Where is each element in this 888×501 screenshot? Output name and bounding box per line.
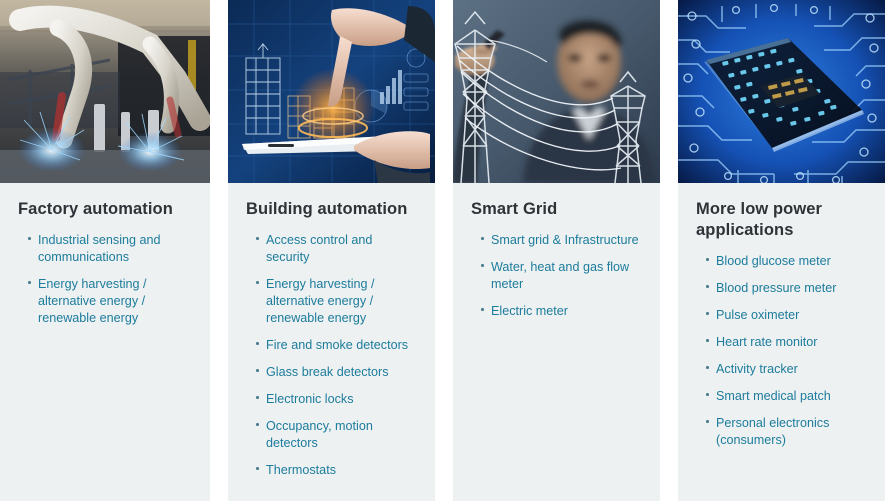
list-item-label: Electric meter xyxy=(491,304,568,318)
card-title: More low power applications xyxy=(696,199,867,241)
feature-list: Smart grid & Infrastructure Water, heat … xyxy=(471,232,642,320)
list-item-label: Fire and smoke detectors xyxy=(266,338,408,352)
bullet-dot-icon xyxy=(481,308,484,311)
feature-list: Access control and security Energy harve… xyxy=(246,232,417,479)
card-more-low-power-applications[interactable]: More low power applications Blood glucos… xyxy=(678,0,885,501)
list-item: Pulse oximeter xyxy=(706,307,867,324)
list-item: Blood pressure meter xyxy=(706,280,867,297)
feature-list: Blood glucose meter Blood pressure meter… xyxy=(696,253,867,449)
bullet-dot-icon xyxy=(706,312,709,315)
list-item: Water, heat and gas flow meter xyxy=(481,259,642,293)
card-title: Factory automation xyxy=(18,199,192,220)
list-item-label: Electronic locks xyxy=(266,392,354,406)
list-item: Smart grid & Infrastructure xyxy=(481,232,642,249)
bullet-dot-icon xyxy=(706,366,709,369)
list-item-label: Water, heat and gas flow meter xyxy=(491,260,629,291)
card-factory-automation[interactable]: Factory automation Industrial sensing an… xyxy=(0,0,210,501)
bullet-dot-icon xyxy=(256,369,259,372)
list-item: Access control and security xyxy=(256,232,417,266)
list-item-label: Access control and security xyxy=(266,233,372,264)
list-item-label: Blood pressure meter xyxy=(716,281,836,295)
bullet-dot-icon xyxy=(256,467,259,470)
card-body: Building automation Access control and s… xyxy=(228,183,435,497)
bullet-dot-icon xyxy=(706,339,709,342)
list-item-label: Blood glucose meter xyxy=(716,254,831,268)
list-item-label: Pulse oximeter xyxy=(716,308,799,322)
bullet-dot-icon xyxy=(706,258,709,261)
list-item: Occupancy, motion detectors xyxy=(256,418,417,452)
list-item-label: Personal electronics (consumers) xyxy=(716,416,829,447)
list-item-label: Activity tracker xyxy=(716,362,798,376)
card-title: Building automation xyxy=(246,199,417,220)
list-item: Industrial sensing and communications xyxy=(28,232,192,266)
bullet-dot-icon xyxy=(256,281,259,284)
list-item-label: Thermostats xyxy=(266,463,336,477)
bullet-dot-icon xyxy=(256,237,259,240)
bullet-dot-icon xyxy=(481,237,484,240)
card-body: More low power applications Blood glucos… xyxy=(678,183,885,467)
list-item: Personal electronics (consumers) xyxy=(706,415,867,449)
list-item: Electric meter xyxy=(481,303,642,320)
list-item: Fire and smoke detectors xyxy=(256,337,417,354)
factory-robot-welding-photo xyxy=(0,0,210,183)
list-item: Blood glucose meter xyxy=(706,253,867,270)
bullet-dot-icon xyxy=(28,281,31,284)
bullet-dot-icon xyxy=(706,393,709,396)
list-item: Glass break detectors xyxy=(256,364,417,381)
list-item-label: Industrial sensing and communications xyxy=(38,233,161,264)
bullet-dot-icon xyxy=(706,285,709,288)
list-item-label: Smart medical patch xyxy=(716,389,831,403)
man-drawing-power-transmission-towers-photo xyxy=(453,0,660,183)
list-item: Electronic locks xyxy=(256,391,417,408)
bullet-dot-icon xyxy=(28,237,31,240)
bullet-dot-icon xyxy=(481,264,484,267)
bullet-dot-icon xyxy=(256,342,259,345)
list-item: Smart medical patch xyxy=(706,388,867,405)
bullet-dot-icon xyxy=(256,396,259,399)
list-item: Thermostats xyxy=(256,462,417,479)
bullet-dot-icon xyxy=(256,423,259,426)
list-item-label: Occupancy, motion detectors xyxy=(266,419,373,450)
card-building-automation[interactable]: Building automation Access control and s… xyxy=(228,0,435,501)
list-item-label: Energy harvesting / alternative energy /… xyxy=(38,277,147,325)
card-smart-grid[interactable]: Smart Grid Smart grid & Infrastructure W… xyxy=(453,0,660,501)
list-item: Activity tracker xyxy=(706,361,867,378)
list-item: Energy harvesting / alternative energy /… xyxy=(256,276,417,327)
list-item: Energy harvesting / alternative energy /… xyxy=(28,276,192,327)
card-body: Factory automation Industrial sensing an… xyxy=(0,183,210,345)
blue-circuit-board-chip-photo xyxy=(678,0,885,183)
bullet-dot-icon xyxy=(706,420,709,423)
list-item-label: Smart grid & Infrastructure xyxy=(491,233,639,247)
card-body: Smart Grid Smart grid & Infrastructure W… xyxy=(453,183,660,338)
list-item: Heart rate monitor xyxy=(706,334,867,351)
application-cards-row: Factory automation Industrial sensing an… xyxy=(0,0,888,501)
feature-list: Industrial sensing and communications En… xyxy=(18,232,192,327)
list-item-label: Glass break detectors xyxy=(266,365,389,379)
list-item-label: Energy harvesting / alternative energy /… xyxy=(266,277,375,325)
list-item-label: Heart rate monitor xyxy=(716,335,818,349)
card-title: Smart Grid xyxy=(471,199,642,220)
tablet-smart-building-hologram-photo xyxy=(228,0,435,183)
